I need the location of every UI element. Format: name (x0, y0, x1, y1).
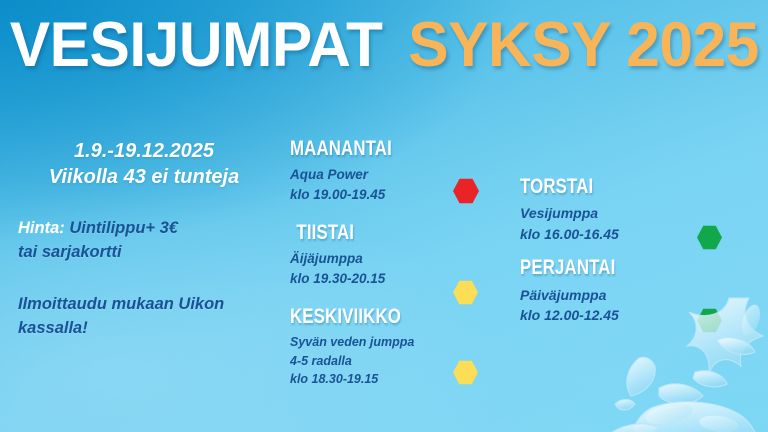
day-title-monday: MAANANTAI (290, 138, 410, 160)
class-time-wednesday: klo 18.30-19.15 (290, 370, 440, 389)
class-name-tuesday: Äijäjumppa (290, 249, 440, 269)
hexagon-yellow-icon (453, 280, 478, 305)
schedule-entry-friday: PERJANTAI Päiväjumppa klo 12.00-12.45 (520, 257, 690, 325)
day-details-friday: Päiväjumppa klo 12.00-12.45 (520, 285, 690, 326)
price-line-2: tai sarjakortti (18, 241, 270, 265)
season-break-note: Viikolla 43 ei tunteja (18, 164, 270, 190)
schedule-entry-thursday: TORSTAI Vesijumppa klo 16.00-16.45 (520, 176, 690, 244)
class-time-thursday: klo 16.00-16.45 (520, 224, 690, 245)
class-name-wednesday: Syvän veden jumppa (290, 333, 440, 352)
title-accent: SYKSY 2025 (408, 14, 759, 77)
day-details-wednesday: Syvän veden jumppa 4-5 radalla klo 18.30… (290, 333, 440, 389)
left-info-column: 1.9.-19.12.2025 Viikolla 43 ei tunteja H… (18, 138, 270, 340)
schedule-column-right: TORSTAI Vesijumppa klo 16.00-16.45 PERJA… (520, 176, 690, 339)
schedule-entry-monday: MAANANTAI Aqua Power klo 19.00-19.45 (290, 138, 440, 205)
day-title-wednesday: KESKIVIIKKO (290, 306, 410, 328)
day-details-thursday: Vesijumppa klo 16.00-16.45 (520, 203, 690, 244)
price-info: Hinta: Uintilippu+ 3€ tai sarjakortti (18, 217, 270, 265)
signup-line-2: kassalla! (18, 317, 270, 341)
class-name-monday: Aqua Power (290, 165, 440, 185)
hexagon-green-icon-2 (697, 308, 722, 333)
day-details-monday: Aqua Power klo 19.00-19.45 (290, 165, 440, 205)
class-name-thursday: Vesijumppa (520, 203, 690, 224)
day-title-thursday: TORSTAI (520, 176, 656, 198)
price-line-1: Hinta: Uintilippu+ 3€ (18, 217, 270, 241)
class-name-friday: Päiväjumppa (520, 285, 690, 306)
class-time-monday: klo 19.00-19.45 (290, 185, 440, 205)
day-title-friday: PERJANTAI (520, 257, 656, 279)
schedule-entry-wednesday: KESKIVIIKKO Syvän veden jumppa 4-5 radal… (290, 306, 440, 389)
schedule-column-left: MAANANTAI Aqua Power klo 19.00-19.45 TII… (290, 138, 440, 403)
hexagon-red-icon (453, 178, 479, 204)
day-details-tuesday: Äijäjumppa klo 19.30-20.15 (290, 249, 440, 289)
poster-title: VESIJUMPATSYKSY 2025 (0, 14, 768, 77)
day-title-tuesday: TIISTAI (290, 222, 410, 244)
price-label: Hinta: (18, 219, 65, 237)
price-value: Uintilippu+ 3€ (65, 219, 178, 237)
title-main: VESIJUMPAT (10, 14, 383, 77)
class-time-friday: klo 12.00-12.45 (520, 305, 690, 326)
season-date-range: 1.9.-19.12.2025 (18, 138, 270, 164)
signup-info: Ilmoittaudu mukaan Uikon kassalla! (18, 293, 270, 341)
poster-canvas: VESIJUMPATSYKSY 2025 1.9.-19.12.2025 Vii… (0, 0, 768, 432)
signup-line-1: Ilmoittaudu mukaan Uikon (18, 293, 270, 317)
hexagon-yellow-icon-2 (453, 360, 478, 385)
class-time-tuesday: klo 19.30-20.15 (290, 269, 440, 289)
schedule-entry-tuesday: TIISTAI Äijäjumppa klo 19.30-20.15 (290, 222, 440, 289)
class-lanes-wednesday: 4-5 radalla (290, 352, 440, 371)
season-dates: 1.9.-19.12.2025 Viikolla 43 ei tunteja (18, 138, 270, 191)
hexagon-green-icon (697, 225, 722, 250)
